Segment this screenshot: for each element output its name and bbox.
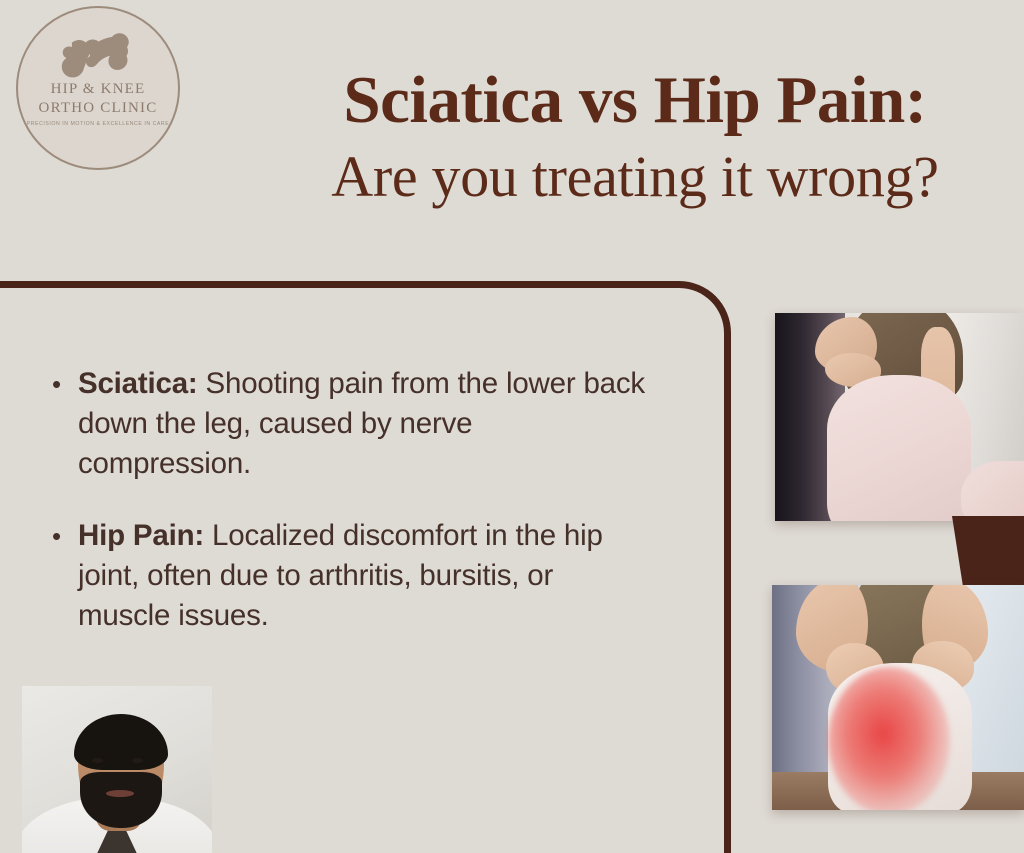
logo-wordmark: HIP & KNEE ORTHO CLINIC PRECISION IN MOT… xyxy=(16,80,180,127)
hip-pain-highlight-photo xyxy=(772,585,1024,810)
doctor-mouth xyxy=(106,790,134,797)
doctor-eye-left xyxy=(92,758,103,763)
infographic-canvas: HIP & KNEE ORTHO CLINIC PRECISION IN MOT… xyxy=(0,0,1024,853)
decorative-wedge xyxy=(952,516,1024,590)
bullet-term: Hip Pain: xyxy=(78,519,204,552)
bullet-marker-icon: • xyxy=(52,516,78,556)
doctor-eye-right xyxy=(132,758,143,763)
list-item: • Sciatica: Shooting pain from the lower… xyxy=(52,364,652,484)
hip-bone-icon xyxy=(44,30,152,86)
logo-line-2: ORTHO CLINIC xyxy=(16,99,180,118)
title-line-2: Are you treating it wrong? xyxy=(250,142,1020,212)
bullet-text: Sciatica: Shooting pain from the lower b… xyxy=(78,364,652,484)
logo-tagline: PRECISION IN MOTION & EXCELLENCE IN CARE xyxy=(16,121,180,127)
figure-pants xyxy=(827,375,971,521)
logo-line-1: HIP & KNEE xyxy=(16,80,180,99)
bullet-list: • Sciatica: Shooting pain from the lower… xyxy=(52,364,652,636)
doctor-portrait xyxy=(22,686,212,853)
clinic-logo: HIP & KNEE ORTHO CLINIC PRECISION IN MOT… xyxy=(16,6,180,170)
list-item: • Hip Pain: Localized discomfort in the … xyxy=(52,516,652,636)
bullet-marker-icon: • xyxy=(52,364,78,404)
title-line-1: Sciatica vs Hip Pain: xyxy=(250,62,1020,138)
pain-highlight-overlay xyxy=(828,667,950,810)
bullet-text: Hip Pain: Localized discomfort in the hi… xyxy=(78,516,652,636)
bullet-term: Sciatica: xyxy=(78,367,198,400)
woman-holding-lower-back-photo xyxy=(775,313,1024,521)
page-title: Sciatica vs Hip Pain: Are you treating i… xyxy=(250,62,1020,212)
